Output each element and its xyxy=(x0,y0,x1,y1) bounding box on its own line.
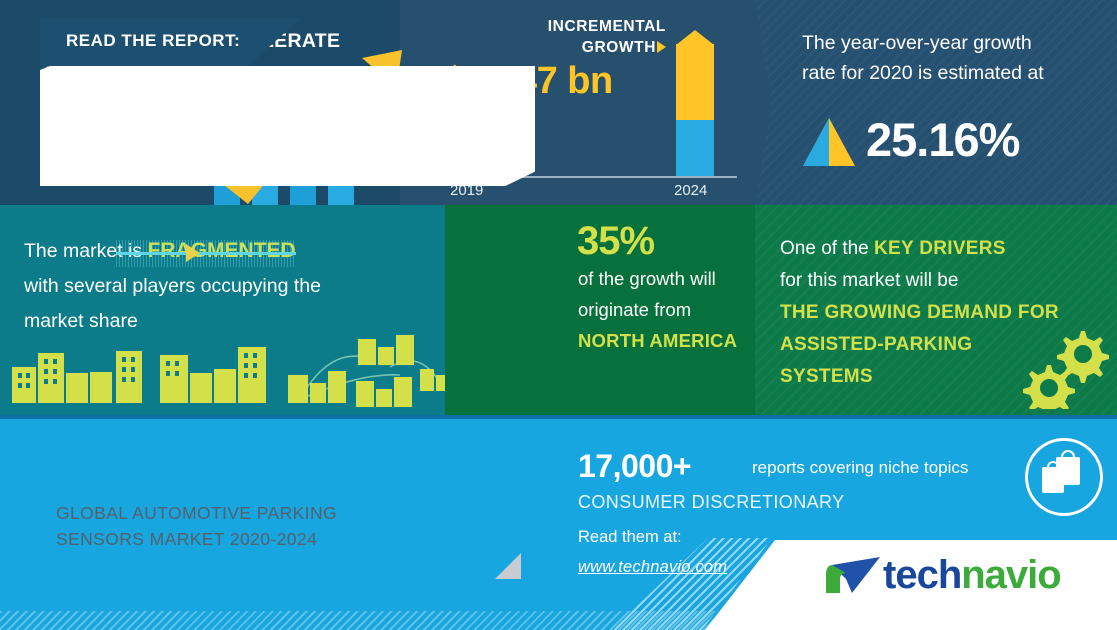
bar-2024-base xyxy=(676,120,714,176)
report-category: CONSUMER DISCRETIONARY xyxy=(578,492,845,513)
key-drivers-content: One of the KEY DRIVERS for this market w… xyxy=(755,205,1117,415)
axis-label-2024: 2024 xyxy=(674,182,707,199)
footer-top-border xyxy=(0,415,1117,419)
arrow-track-line xyxy=(116,252,296,255)
report-title[interactable]: GLOBAL AUTOMOTIVE PARKING SENSORS MARKET… xyxy=(56,500,476,552)
logo-text-tech: tech xyxy=(883,553,961,597)
bar-2024-increment xyxy=(676,44,714,120)
yoy-line1: The year-over-year growth xyxy=(802,32,1032,54)
shopping-bags-icon xyxy=(1028,441,1094,507)
yoy-line2: rate for 2020 is estimated at xyxy=(802,62,1044,84)
read-the-report-label: READ THE REPORT: xyxy=(66,31,240,51)
reports-count: 17,000+ xyxy=(578,448,691,485)
driver-detail-line2: ASSISTED-PARKING xyxy=(780,334,972,355)
region-text: of the growth will originate from NORTH … xyxy=(578,263,768,356)
incremental-label-line2: GROWTH xyxy=(582,39,656,56)
fragmented-line2: with several players occupying the xyxy=(24,275,321,297)
driver-detail-line3: SYSTEMS xyxy=(780,366,873,387)
incremental-label-line1: INCREMENTAL xyxy=(548,18,666,35)
paper-plane-icon xyxy=(826,553,884,601)
region-line1: of the growth will xyxy=(578,268,716,289)
incremental-growth-label: INCREMENTAL GROWTH xyxy=(446,16,666,58)
technavio-logo-text: technavio xyxy=(883,553,1061,598)
reports-description: reports covering niche topics xyxy=(752,458,968,478)
skyline-svg xyxy=(0,325,445,415)
yoy-value: 25.16% xyxy=(866,112,1019,167)
arrow-right-icon xyxy=(186,244,200,262)
drivers-line1-prefix: One of the xyxy=(780,238,874,259)
report-title-line1: GLOBAL AUTOMOTIVE PARKING xyxy=(56,503,337,523)
region-share-value: 35% xyxy=(577,219,654,264)
yoy-text: The year-over-year growth rate for 2020 … xyxy=(802,28,1102,88)
read-them-at-label: Read them at: xyxy=(578,528,682,547)
gears-icon xyxy=(1023,327,1109,409)
triangle-right-icon xyxy=(657,41,666,53)
city-skyline-icon xyxy=(0,325,445,415)
infographic-canvas: Market growth will ACCELERATE at a CAGR … xyxy=(0,0,1117,630)
drivers-line2: for this market will be xyxy=(780,270,958,291)
shopping-bags-circle xyxy=(1025,438,1103,516)
region-name: NORTH AMERICA xyxy=(578,330,737,351)
logo-text-navio: navio xyxy=(961,553,1060,597)
region-line2: originate from xyxy=(578,299,691,320)
report-title-line2: SENSORS MARKET 2020-2024 xyxy=(56,529,317,549)
driver-detail-line1: THE GROWING DEMAND FOR xyxy=(780,302,1059,323)
drivers-line1-bold: KEY DRIVERS xyxy=(874,238,1006,259)
report-card[interactable] xyxy=(40,66,535,186)
middle-row: The market is FRAGMENTED with several pl… xyxy=(0,205,1117,415)
bar-2024-cap-icon xyxy=(676,30,714,45)
